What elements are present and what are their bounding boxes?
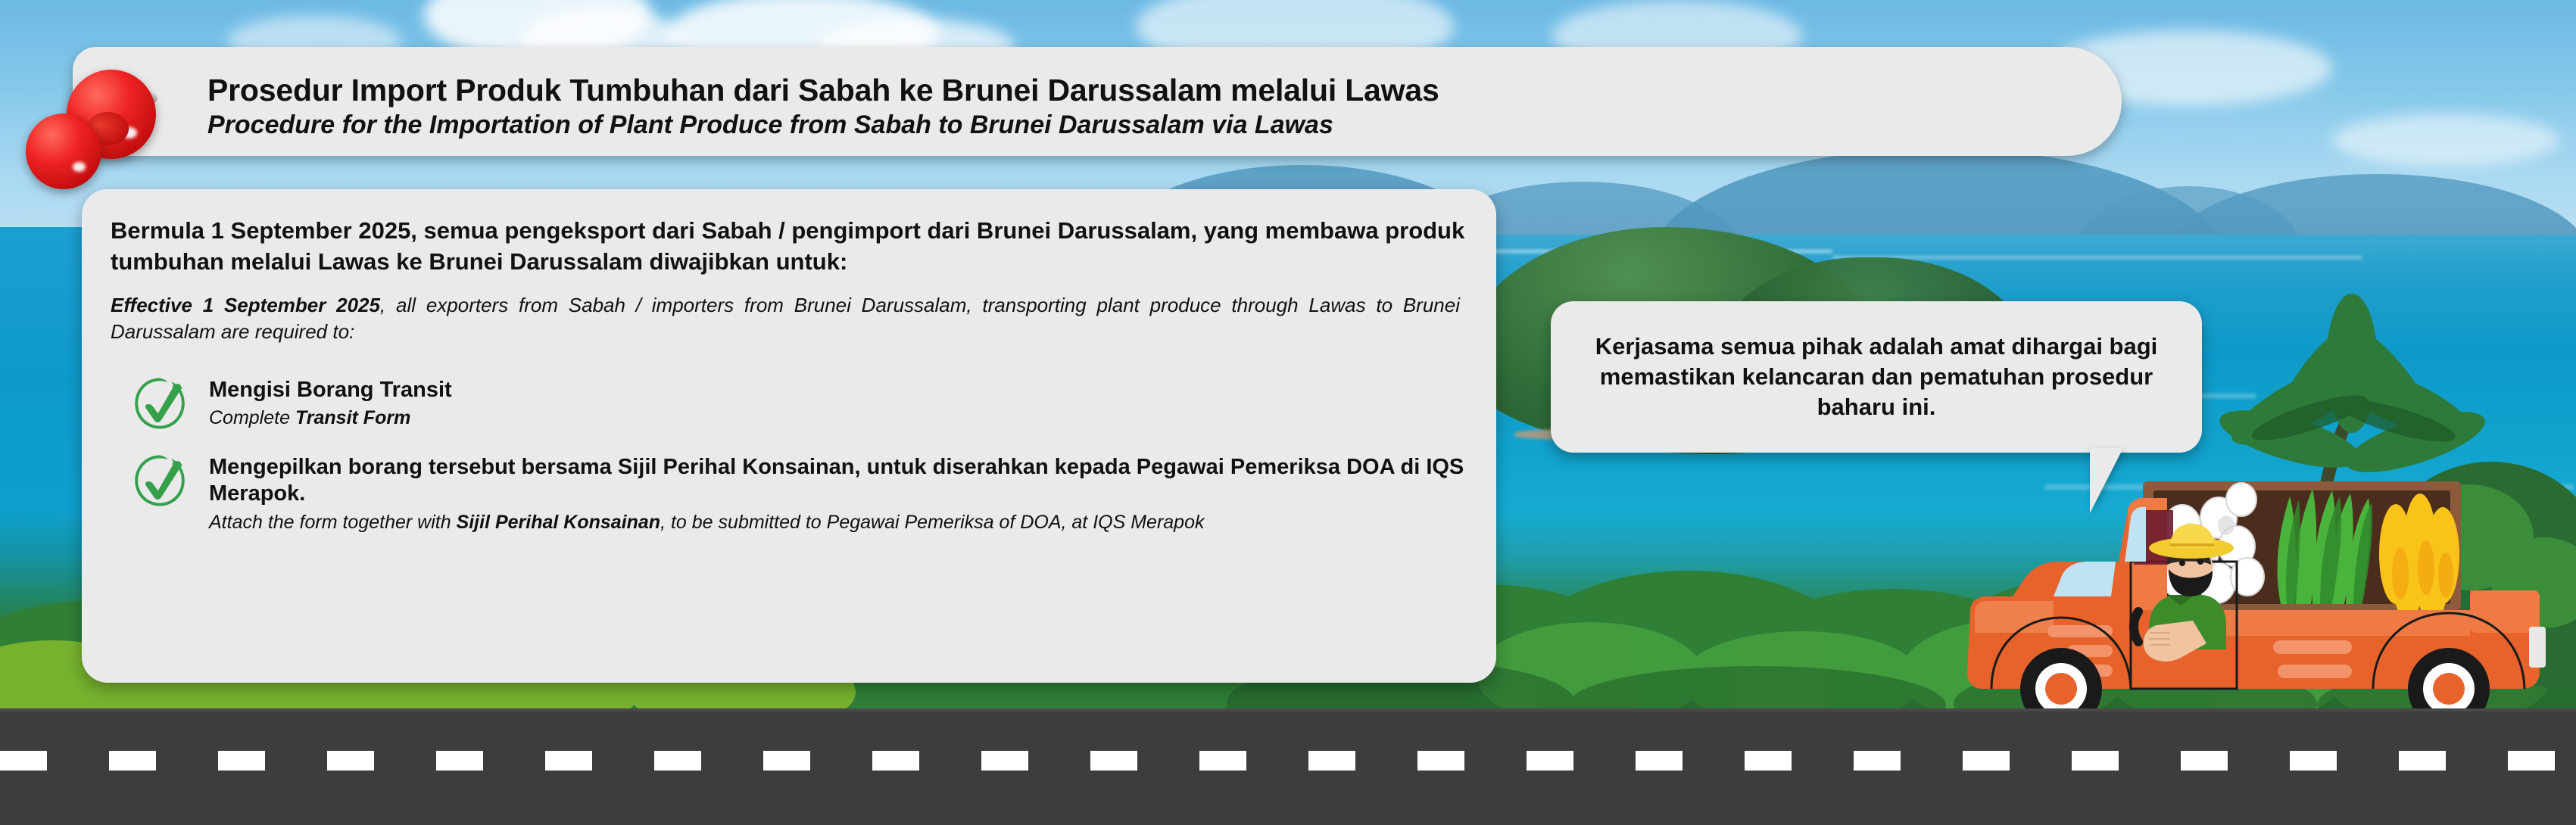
intro-lead-malay: Bermula 1 September 2025, bbox=[111, 217, 417, 244]
requirement-english-bold: Sijil Perihal Konsainan bbox=[457, 512, 661, 533]
list-item: Mengisi Borang Transit Complete Transit … bbox=[111, 372, 1466, 433]
main-content-panel: Bermula 1 September 2025, semua pengeksp… bbox=[82, 189, 1496, 683]
pickup-truck-icon bbox=[1940, 477, 2576, 727]
intro-paragraph-english: Effective 1 September 2025, all exporter… bbox=[111, 292, 1466, 345]
infographic-poster: Prosedur Import Produk Tumbuhan dari Sab… bbox=[0, 0, 2576, 825]
requirement-malay: Mengepilkan borang tersebut bersama Siji… bbox=[209, 454, 1466, 508]
list-item: Mengepilkan borang tersebut bersama Siji… bbox=[111, 450, 1466, 534]
list-item-text: Mengisi Borang Transit Complete Transit … bbox=[209, 372, 452, 431]
check-circle-brush-icon bbox=[130, 451, 189, 510]
requirement-english-bold: Transit Form bbox=[295, 407, 410, 428]
pushpin-head-small bbox=[26, 114, 101, 189]
intro-lead-english: Effective 1 September 2025 bbox=[111, 294, 380, 316]
check-circle-brush-icon bbox=[130, 374, 189, 433]
page-title: Prosedur Import Produk Tumbuhan dari Sab… bbox=[207, 73, 2076, 108]
intro-paragraph-malay: Bermula 1 September 2025, semua pengeksp… bbox=[111, 215, 1466, 277]
requirement-malay: Mengisi Borang Transit bbox=[209, 377, 452, 403]
speech-bubble-text: Kerjasama semua pihak adalah amat diharg… bbox=[1570, 332, 2182, 422]
page-subtitle: Procedure for the Importation of Plant P… bbox=[207, 111, 2076, 140]
requirement-english: Complete Transit Form bbox=[209, 406, 452, 431]
road-edge bbox=[0, 708, 2576, 711]
road-lane-markings bbox=[0, 751, 2576, 771]
title-banner: Prosedur Import Produk Tumbuhan dari Sab… bbox=[73, 47, 2122, 156]
requirement-english-pre: Attach the form together with bbox=[209, 512, 457, 533]
pushpin-icon bbox=[23, 59, 182, 203]
road bbox=[0, 708, 2576, 825]
cloud bbox=[2332, 114, 2559, 167]
requirement-english: Attach the form together with Sijil Peri… bbox=[209, 510, 1466, 535]
list-item-text: Mengepilkan borang tersebut bersama Siji… bbox=[209, 450, 1466, 534]
speech-bubble: Kerjasama semua pihak adalah amat diharg… bbox=[1551, 301, 2202, 453]
requirement-english-post: , to be submitted to Pegawai Pemeriksa o… bbox=[660, 512, 1204, 533]
requirements-checklist: Mengisi Borang Transit Complete Transit … bbox=[111, 372, 1466, 534]
requirement-english-pre: Complete bbox=[209, 407, 295, 428]
